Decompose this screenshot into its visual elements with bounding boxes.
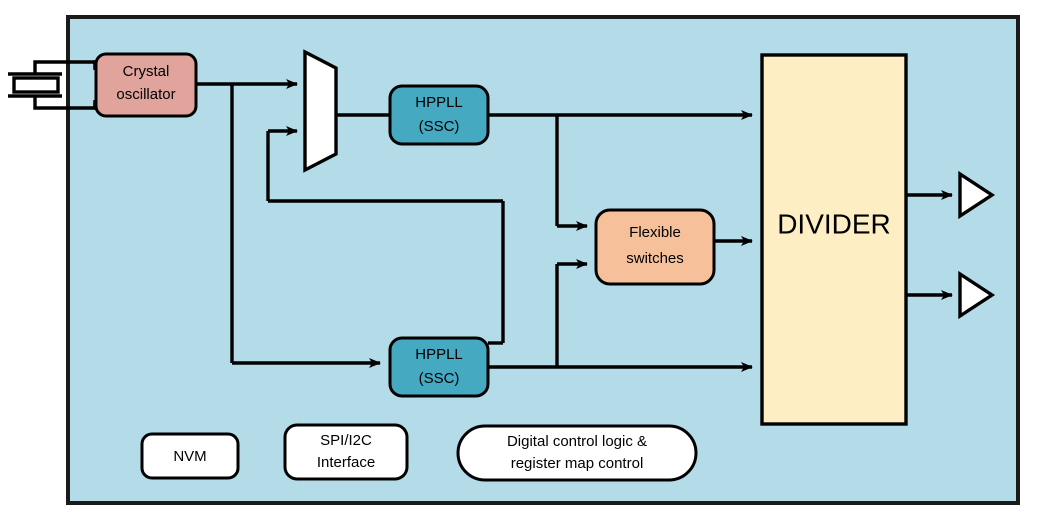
block-spi-i2c-interface[interactable]: SPI/I2C Interface: [285, 425, 407, 479]
digital-control-label-line2: register map control: [511, 455, 644, 472]
hppll-top-label-line2: (SSC): [419, 118, 460, 135]
block-digital-control-logic[interactable]: Digital control logic & register map con…: [458, 426, 696, 480]
divider-label: DIVIDER: [777, 208, 891, 239]
nvm-label: NVM: [173, 448, 206, 465]
block-crystal-oscillator[interactable]: Crystal oscillator: [96, 54, 196, 116]
hppll-bottom-label-line1: HPPLL: [415, 346, 463, 363]
digital-control-label-line1: Digital control logic &: [507, 433, 647, 450]
crystal-oscillator-label-line2: oscillator: [116, 86, 175, 103]
flexible-switches-label-line2: switches: [626, 250, 684, 267]
spi-i2c-label-line2: Interface: [317, 454, 375, 471]
hppll-top-label-line1: HPPLL: [415, 94, 463, 111]
block-hppll-top[interactable]: HPPLL (SSC): [390, 86, 488, 144]
crystal-oscillator-label-line1: Crystal: [123, 63, 170, 80]
block-mux[interactable]: [305, 52, 336, 170]
flexible-switches-label-line1: Flexible: [629, 224, 681, 241]
block-nvm[interactable]: NVM: [142, 434, 238, 478]
block-hppll-bottom[interactable]: HPPLL (SSC): [390, 338, 488, 396]
block-divider[interactable]: DIVIDER: [762, 55, 906, 424]
hppll-bottom-label-line2: (SSC): [419, 370, 460, 387]
block-diagram-canvas: Crystal oscillator HPPLL (SSC) HPPLL (SS…: [0, 0, 1040, 522]
diagram-svg: Crystal oscillator HPPLL (SSC) HPPLL (SS…: [0, 0, 1040, 522]
spi-i2c-label-line1: SPI/I2C: [320, 432, 372, 449]
block-flexible-switches[interactable]: Flexible switches: [596, 210, 714, 284]
